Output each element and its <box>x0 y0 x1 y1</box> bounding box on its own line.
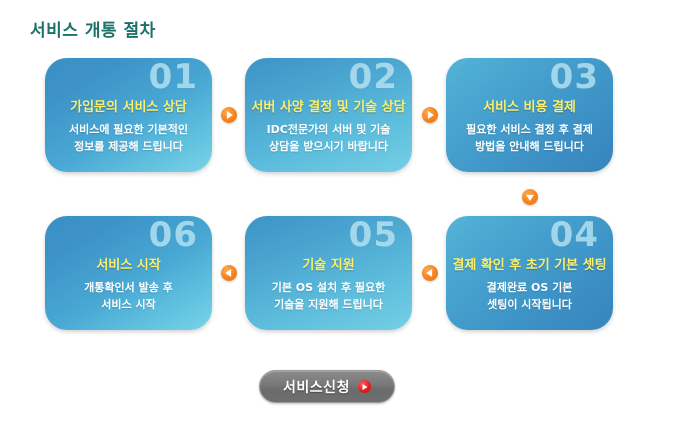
step-description-line: 상담을 받으시기 바랍니다 <box>245 138 412 155</box>
arrow-right-icon <box>221 107 237 123</box>
arrow-left-icon <box>221 265 237 281</box>
arrow-right-icon <box>422 107 438 123</box>
step-description-line: 개통확인서 발송 후 <box>45 279 212 296</box>
process-step-card-06[interactable]: 06 서비스 시작 개통확인서 발송 후 서비스 시작 <box>45 216 212 330</box>
step-description-line: 결제완료 OS 기본 <box>446 279 613 296</box>
apply-service-button[interactable]: 서비스신청 <box>259 370 395 403</box>
step-description: 개통확인서 발송 후 서비스 시작 <box>45 279 212 313</box>
arrow-down-icon <box>522 189 538 205</box>
step-heading: 서비스 시작 <box>45 254 212 273</box>
step-description: IDC전문가의 서버 및 기술 상담을 받으시기 바랍니다 <box>245 121 412 155</box>
step-description-line: 기본 OS 설치 후 필요한 <box>245 279 412 296</box>
process-step-card-04[interactable]: 04 결제 확인 후 초기 기본 셋팅 결제완료 OS 기본 셋팅이 시작됩니다 <box>446 216 613 330</box>
step-number: 02 <box>349 59 398 96</box>
step-description-line: 서비스에 필요한 기본적인 <box>45 121 212 138</box>
process-step-card-01[interactable]: 01 가입문의 서비스 상담 서비스에 필요한 기본적인 정보를 제공해 드립니… <box>45 58 212 172</box>
step-description: 필요한 서비스 결정 후 결제 방법을 안내해 드립니다 <box>446 121 613 155</box>
step-description-line: 기술을 지원해 드립니다 <box>245 296 412 313</box>
arrow-left-icon <box>422 265 438 281</box>
step-heading: 서비스 비용 결제 <box>446 96 613 115</box>
step-heading: 기술 지원 <box>245 254 412 273</box>
step-description-line: IDC전문가의 서버 및 기술 <box>245 121 412 138</box>
step-description: 결제완료 OS 기본 셋팅이 시작됩니다 <box>446 279 613 313</box>
step-description: 기본 OS 설치 후 필요한 기술을 지원해 드립니다 <box>245 279 412 313</box>
step-description-line: 정보를 제공해 드립니다 <box>45 138 212 155</box>
process-step-card-02[interactable]: 02 서버 사양 결정 및 기술 상담 IDC전문가의 서버 및 기술 상담을 … <box>245 58 412 172</box>
arrow-right-circle-icon <box>358 380 371 393</box>
step-number: 05 <box>349 217 398 254</box>
step-heading: 결제 확인 후 초기 기본 셋팅 <box>446 254 613 273</box>
step-number: 04 <box>550 217 599 254</box>
step-description-line: 서비스 시작 <box>45 296 212 313</box>
apply-service-button-label: 서비스신청 <box>283 377 350 397</box>
step-number: 06 <box>149 217 198 254</box>
process-step-card-05[interactable]: 05 기술 지원 기본 OS 설치 후 필요한 기술을 지원해 드립니다 <box>245 216 412 330</box>
step-description: 서비스에 필요한 기본적인 정보를 제공해 드립니다 <box>45 121 212 155</box>
step-description-line: 셋팅이 시작됩니다 <box>446 296 613 313</box>
page-title: 서비스 개통 절차 <box>30 16 156 41</box>
step-number: 03 <box>550 59 599 96</box>
step-number: 01 <box>149 59 198 96</box>
step-heading: 서버 사양 결정 및 기술 상담 <box>245 96 412 115</box>
step-heading: 가입문의 서비스 상담 <box>45 96 212 115</box>
step-description-line: 방법을 안내해 드립니다 <box>446 138 613 155</box>
process-flow-diagram: 01 가입문의 서비스 상담 서비스에 필요한 기본적인 정보를 제공해 드립니… <box>45 58 613 330</box>
process-step-card-03[interactable]: 03 서비스 비용 결제 필요한 서비스 결정 후 결제 방법을 안내해 드립니… <box>446 58 613 172</box>
step-description-line: 필요한 서비스 결정 후 결제 <box>446 121 613 138</box>
